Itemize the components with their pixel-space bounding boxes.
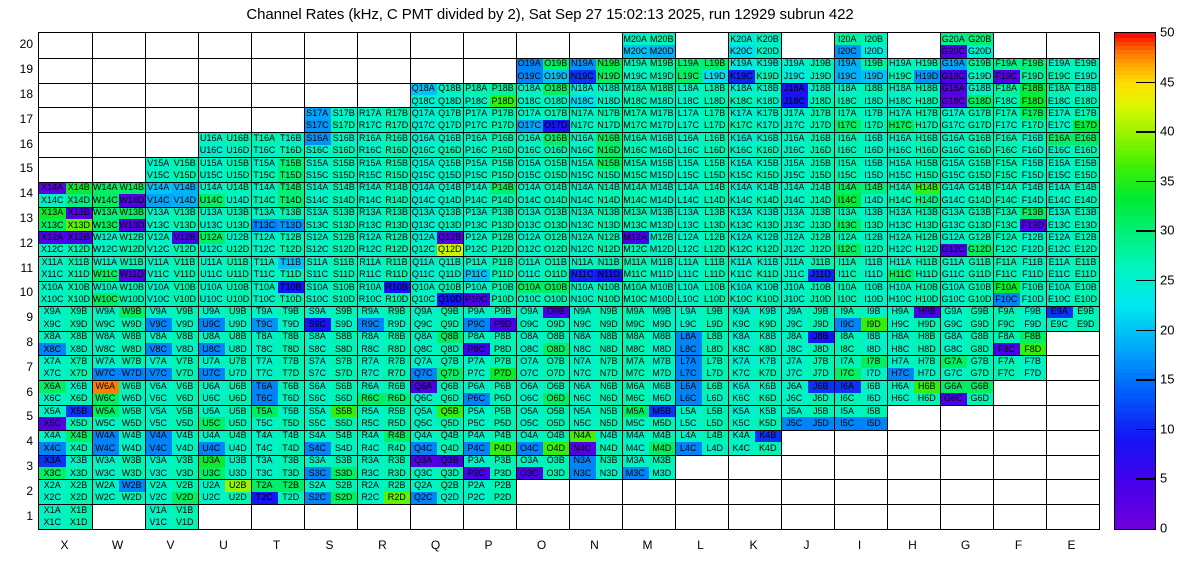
heatmap-quadrant: M14C [622, 194, 649, 206]
heatmap-quadrant: S17C [304, 120, 331, 132]
heatmap-quadrant: G10D [967, 293, 994, 305]
heatmap-quadrant: F9C [993, 318, 1020, 330]
heatmap-quadrant: T7D [278, 368, 305, 380]
heatmap-quadrant: I6C [834, 393, 861, 405]
heatmap-quadrant: K6A [728, 380, 755, 392]
heatmap-quadrant: M12C [622, 244, 649, 256]
heatmap-quadrant: P11B [490, 256, 517, 268]
heatmap-quadrant: N19B [596, 58, 623, 70]
heatmap-quadrant: V15A [145, 157, 172, 169]
heatmap-quadrant: O6A [516, 380, 543, 392]
x-axis-tick: F [992, 538, 1046, 552]
heatmap-quadrant: E10B [1073, 281, 1100, 293]
heatmap-quadrant: N11A [569, 256, 596, 268]
heatmap-quadrant: K8C [728, 343, 755, 355]
heatmap-quadrant: K16A [728, 132, 755, 144]
heatmap-quadrant: G7A [940, 355, 967, 367]
heatmap-quadrant: U8A [198, 331, 225, 343]
heatmap-quadrant: N16B [596, 132, 623, 144]
heatmap-quadrant: Q13A [410, 207, 437, 219]
heatmap-quadrant: V11C [145, 269, 172, 281]
heatmap-quadrant: S7B [331, 355, 358, 367]
heatmap-quadrant: L9B [702, 306, 729, 318]
heatmap-quadrant: K12B [755, 231, 782, 243]
heatmap-quadrant: I11B [861, 256, 888, 268]
heatmap-quadrant: S16B [331, 132, 358, 144]
heatmap-quadrant: H14D [914, 194, 941, 206]
heatmap-quadrant: H16C [887, 145, 914, 157]
colorbar-tick-label: 10 [1160, 421, 1174, 436]
heatmap-quadrant: O3D [543, 467, 570, 479]
heatmap-quadrant: R9D [384, 318, 411, 330]
heatmap-quadrant: S11A [304, 256, 331, 268]
heatmap-quadrant: K5D [755, 417, 782, 429]
heatmap-quadrant: J18A [781, 83, 808, 95]
heatmap-quadrant: J14A [781, 182, 808, 194]
heatmap-quadrant: U7D [225, 368, 252, 380]
heatmap-quadrant: M10D [649, 293, 676, 305]
heatmap-quadrant: P18B [490, 83, 517, 95]
x-axis-tick: N [568, 538, 622, 552]
heatmap-quadrant: R14C [357, 194, 384, 206]
heatmap-quadrant: U3A [198, 455, 225, 467]
colorbar-tick-mark [1136, 280, 1156, 281]
heatmap-quadrant: M15B [649, 157, 676, 169]
heatmap-quadrant: H10D [914, 293, 941, 305]
heatmap-quadrant: T14C [251, 194, 278, 206]
heatmap-quadrant: V10B [172, 281, 199, 293]
heatmap-quadrant: L12B [702, 231, 729, 243]
heatmap-quadrant: J6C [781, 393, 808, 405]
heatmap-quadrant: G12B [967, 231, 994, 243]
heatmap-quadrant: V3C [145, 467, 172, 479]
heatmap-quadrant: G7C [940, 368, 967, 380]
heatmap-quadrant: J7C [781, 368, 808, 380]
heatmap-quadrant: S9C [304, 318, 331, 330]
heatmap-quadrant: T12A [251, 231, 278, 243]
heatmap-quadrant: G16C [940, 145, 967, 157]
y-axis-tick: 7 [3, 360, 33, 374]
heatmap-quadrant: J6A [781, 380, 808, 392]
heatmap-quadrant: R12D [384, 244, 411, 256]
heatmap-quadrant: E9B [1073, 306, 1100, 318]
heatmap-quadrant: X14C [39, 194, 66, 206]
heatmap-quadrant: L17D [702, 120, 729, 132]
y-axis-tick: 2 [3, 484, 33, 498]
heatmap-quadrant: R7B [384, 355, 411, 367]
colorbar-tick-mark [1136, 131, 1156, 132]
heatmap-quadrant: O5C [516, 417, 543, 429]
heatmap-quadrant: G15C [940, 169, 967, 181]
heatmap-quadrant: U4A [198, 430, 225, 442]
heatmap-quadrant: V7B [172, 355, 199, 367]
heatmap-quadrant: F9B [1020, 306, 1047, 318]
heatmap-quadrant: N14B [596, 182, 623, 194]
heatmap-quadrant: L4A [675, 430, 702, 442]
heatmap-quadrant: J15A [781, 157, 808, 169]
heatmap-quadrant: T6C [251, 393, 278, 405]
heatmap-quadrant: K5C [728, 417, 755, 429]
heatmap-quadrant: F17C [993, 120, 1020, 132]
heatmap-quadrant: H19D [914, 70, 941, 82]
heatmap-quadrant: G16D [967, 145, 994, 157]
heatmap-quadrant: I6A [834, 380, 861, 392]
heatmap-quadrant: M4D [649, 442, 676, 454]
heatmap-quadrant: U14A [198, 182, 225, 194]
heatmap-quadrant: N16C [569, 145, 596, 157]
heatmap-quadrant: O19B [543, 58, 570, 70]
heatmap-quadrant: Q7D [437, 368, 464, 380]
heatmap-quadrant: M16A [622, 132, 649, 144]
heatmap-quadrant: J16D [808, 145, 835, 157]
y-axis-tick: 3 [3, 459, 33, 473]
heatmap-quadrant: V7A [145, 355, 172, 367]
heatmap-quadrant: U8B [225, 331, 252, 343]
colorbar-tick-mark [1136, 429, 1156, 430]
heatmap-quadrant: L11D [702, 269, 729, 281]
heatmap-quadrant: P14D [490, 194, 517, 206]
heatmap-quadrant: R11D [384, 269, 411, 281]
heatmap-quadrant: P8D [490, 343, 517, 355]
heatmap-quadrant: W6A [92, 380, 119, 392]
heatmap-quadrant: H15C [887, 169, 914, 181]
heatmap-quadrant: Q18C [410, 95, 437, 107]
heatmap-quadrant: H9A [887, 306, 914, 318]
heatmap-quadrant: F14D [1020, 194, 1047, 206]
heatmap-quadrant: L17A [675, 107, 702, 119]
heatmap-quadrant: W5A [92, 405, 119, 417]
heatmap-quadrant: N9D [596, 318, 623, 330]
heatmap-quadrant: S4C [304, 442, 331, 454]
heatmap-quadrant: U6A [198, 380, 225, 392]
heatmap-quadrant: U9B [225, 306, 252, 318]
heatmap-quadrant: G6A [940, 380, 967, 392]
heatmap-quadrant: G11A [940, 256, 967, 268]
heatmap-quadrant: I9B [861, 306, 888, 318]
heatmap-quadrant: I16C [834, 145, 861, 157]
heatmap-quadrant: K19A [728, 58, 755, 70]
heatmap-quadrant: V3B [172, 455, 199, 467]
heatmap-quadrant: P15B [490, 157, 517, 169]
heatmap-quadrant: U4C [198, 442, 225, 454]
heatmap-quadrant: N11B [596, 256, 623, 268]
heatmap-quadrant: K10C [728, 293, 755, 305]
heatmap-quadrant: J14C [781, 194, 808, 206]
heatmap-quadrant: J7B [808, 355, 835, 367]
colorbar-tick-mark [1136, 379, 1156, 380]
heatmap-quadrant: P8C [463, 343, 490, 355]
heatmap-quadrant: L15A [675, 157, 702, 169]
heatmap-quadrant: I5B [861, 405, 888, 417]
heatmap-quadrant: E11C [1046, 269, 1073, 281]
x-axis-tick: L [674, 538, 728, 552]
heatmap-quadrant: J5D [808, 417, 835, 429]
heatmap-quadrant: L14D [702, 194, 729, 206]
heatmap-quadrant: J14D [808, 194, 835, 206]
heatmap-quadrant: O14D [543, 194, 570, 206]
heatmap-quadrant: X7B [66, 355, 93, 367]
heatmap-quadrant: Q5A [410, 405, 437, 417]
heatmap-quadrant: P17A [463, 107, 490, 119]
heatmap-quadrant: H17A [887, 107, 914, 119]
heatmap-quadrant: X8B [66, 331, 93, 343]
page-title: Channel Rates (kHz, C PMT divided by 2),… [0, 6, 1100, 23]
heatmap-quadrant: G10B [967, 281, 994, 293]
heatmap-quadrant: W3B [119, 455, 146, 467]
heatmap-quadrant: L19C [675, 70, 702, 82]
colorbar-tick-mark [1136, 330, 1156, 331]
heatmap-quadrant: G14C [940, 194, 967, 206]
heatmap-quadrant: V5D [172, 417, 199, 429]
heatmap-quadrant: Q11B [437, 256, 464, 268]
heatmap-quadrant: N9C [569, 318, 596, 330]
heatmap-quadrant: P6C [463, 393, 490, 405]
heatmap-quadrant: L8C [675, 343, 702, 355]
heatmap-quadrant: J17B [808, 107, 835, 119]
heatmap-quadrant: J18B [808, 83, 835, 95]
y-axis-tick: 9 [3, 310, 33, 324]
heatmap-quadrant: O12C [516, 244, 543, 256]
heatmap-quadrant: K16B [755, 132, 782, 144]
heatmap-quadrant: L14C [675, 194, 702, 206]
heatmap-quadrant: N9A [569, 306, 596, 318]
heatmap-quadrant: I19D [861, 70, 888, 82]
heatmap-quadrant: J7A [781, 355, 808, 367]
heatmap-quadrant: U4B [225, 430, 252, 442]
heatmap-quadrant: H11C [887, 269, 914, 281]
heatmap-quadrant: P3A [463, 455, 490, 467]
heatmap-quadrant: N8B [596, 331, 623, 343]
x-axis-tick: Q [409, 538, 463, 552]
heatmap-quadrant: E13C [1046, 219, 1073, 231]
heatmap-quadrant: X3B [66, 455, 93, 467]
heatmap-quadrant: M14B [649, 182, 676, 194]
heatmap-quadrant: H14A [887, 182, 914, 194]
colorbar-tick-label: 40 [1160, 124, 1174, 139]
heatmap-quadrant: J8C [781, 343, 808, 355]
heatmap-quadrant: S10C [304, 293, 331, 305]
heatmap-quadrant: Q10B [437, 281, 464, 293]
heatmap-quadrant: H13C [887, 219, 914, 231]
heatmap-quadrant: T12C [251, 244, 278, 256]
heatmap-quadrant: K17A [728, 107, 755, 119]
heatmap-quadrant: P17B [490, 107, 517, 119]
heatmap-quadrant: K13D [755, 219, 782, 231]
heatmap-quadrant: E18A [1046, 83, 1073, 95]
heatmap-quadrant: T6B [278, 380, 305, 392]
heatmap-quadrant: U11C [198, 269, 225, 281]
heatmap-quadrant: G18C [940, 95, 967, 107]
heatmap-quadrant: W9C [92, 318, 119, 330]
heatmap-quadrant: G17C [940, 120, 967, 132]
heatmap-quadrant: L7B [702, 355, 729, 367]
heatmap-quadrant: R10B [384, 281, 411, 293]
heatmap-quadrant: T9B [278, 306, 305, 318]
heatmap-quadrant: Q8A [410, 331, 437, 343]
heatmap-quadrant: X11B [66, 256, 93, 268]
heatmap-quadrant: P13D [490, 219, 517, 231]
heatmap-quadrant: H6C [887, 393, 914, 405]
heatmap-quadrant: J15C [781, 169, 808, 181]
heatmap-quadrant: I12B [861, 231, 888, 243]
heatmap-quadrant: J10A [781, 281, 808, 293]
heatmap-quadrant: R8C [357, 343, 384, 355]
heatmap-quadrant: Q3A [410, 455, 437, 467]
x-axis-tick: M [621, 538, 675, 552]
heatmap-quadrant: X2A [39, 479, 66, 491]
y-axis-tick: 17 [3, 112, 33, 126]
heatmap-quadrant: T15B [278, 157, 305, 169]
heatmap-quadrant: M6C [622, 393, 649, 405]
heatmap-quadrant: N12C [569, 244, 596, 256]
heatmap-quadrant: J17D [808, 120, 835, 132]
heatmap-quadrant: P12C [463, 244, 490, 256]
heatmap-quadrant: X13D [66, 219, 93, 231]
heatmap-quadrant: E13B [1073, 207, 1100, 219]
heatmap-quadrant: Q6C [410, 393, 437, 405]
heatmap-quadrant: L5A [675, 405, 702, 417]
heatmap-quadrant: R11A [357, 256, 384, 268]
heatmap-quadrant: N8C [569, 343, 596, 355]
heatmap-quadrant: R2C [357, 492, 384, 504]
heatmap-quadrant: E16A [1046, 132, 1073, 144]
heatmap-quadrant: M13A [622, 207, 649, 219]
heatmap-quadrant: X9C [39, 318, 66, 330]
heatmap-quadrant: Q18A [410, 83, 437, 95]
heatmap-quadrant: H11A [887, 256, 914, 268]
heatmap-quadrant: W13A [92, 207, 119, 219]
heatmap-quadrant: X9D [66, 318, 93, 330]
heatmap-quadrant: W7A [92, 355, 119, 367]
heatmap-quadrant: X3D [66, 467, 93, 479]
heatmap-quadrant: U13D [225, 219, 252, 231]
colorbar-tick-mark [1136, 230, 1156, 231]
heatmap-quadrant: T8C [251, 343, 278, 355]
heatmap-quadrant: E19D [1073, 70, 1100, 82]
x-axis-tick: E [1045, 538, 1099, 552]
heatmap-quadrant: F19B [1020, 58, 1047, 70]
y-axis-tick: 14 [3, 186, 33, 200]
heatmap-quadrant: I15B [861, 157, 888, 169]
heatmap-quadrant: W14A [92, 182, 119, 194]
heatmap-quadrant: L5D [702, 417, 729, 429]
heatmap-quadrant: L9D [702, 318, 729, 330]
heatmap-quadrant: S12C [304, 244, 331, 256]
heatmap-quadrant: F14A [993, 182, 1020, 194]
heatmap-quadrant: N6D [596, 393, 623, 405]
heatmap-quadrant: M12A [622, 231, 649, 243]
heatmap-quadrant: X1C [39, 517, 66, 529]
heatmap-quadrant: L19A [675, 58, 702, 70]
heatmap-quadrant: X3A [39, 455, 66, 467]
heatmap-quadrant: E17D [1073, 120, 1100, 132]
heatmap-quadrant: P9D [490, 318, 517, 330]
heatmap-quadrant: F14C [993, 194, 1020, 206]
heatmap-quadrant: U10C [198, 293, 225, 305]
heatmap-quadrant: V2A [145, 479, 172, 491]
heatmap-quadrant: X8C [39, 343, 66, 355]
heatmap-quadrant: V6C [145, 393, 172, 405]
heatmap-quadrant: V1C [145, 517, 172, 529]
heatmap-quadrant: R17D [384, 120, 411, 132]
heatmap-quadrant: S8A [304, 331, 331, 343]
heatmap-quadrant: L18B [702, 83, 729, 95]
heatmap-quadrant: F16D [1020, 145, 1047, 157]
heatmap-quadrant: O19D [543, 70, 570, 82]
heatmap-quadrant: K4C [728, 442, 755, 454]
heatmap-quadrant: V15C [145, 169, 172, 181]
heatmap-quadrant: Q8B [437, 331, 464, 343]
heatmap-quadrant: O12D [543, 244, 570, 256]
heatmap-quadrant: V11D [172, 269, 199, 281]
heatmap-quadrant: F8B [1020, 331, 1047, 343]
heatmap-quadrant: K14C [728, 194, 755, 206]
heatmap-quadrant: K9B [755, 306, 782, 318]
heatmap-quadrant: G19D [967, 70, 994, 82]
heatmap-quadrant: Q5D [437, 417, 464, 429]
heatmap-quadrant: V1A [145, 504, 172, 516]
heatmap-quadrant: M3C [622, 467, 649, 479]
heatmap-quadrant: T6A [251, 380, 278, 392]
heatmap-quadrant: R4A [357, 430, 384, 442]
heatmap-quadrant: G18A [940, 83, 967, 95]
heatmap-quadrant: I15C [834, 169, 861, 181]
heatmap-quadrant: Q11C [410, 269, 437, 281]
heatmap-quadrant: K18D [755, 95, 782, 107]
heatmap-quadrant: J18D [808, 95, 835, 107]
heatmap-quadrant: T10A [251, 281, 278, 293]
heatmap-quadrant: S3B [331, 455, 358, 467]
x-axis-tick: S [303, 538, 357, 552]
heatmap-quadrant: M9A [622, 306, 649, 318]
heatmap-quadrant: N6B [596, 380, 623, 392]
heatmap-quadrant: R5B [384, 405, 411, 417]
heatmap-quadrant: W14D [119, 194, 146, 206]
heatmap-quadrant: V12D [172, 244, 199, 256]
heatmap-quadrant: X5A [39, 405, 66, 417]
heatmap-quadrant: P13C [463, 219, 490, 231]
heatmap-quadrant: J5C [781, 417, 808, 429]
heatmap-quadrant: Q13B [437, 207, 464, 219]
heatmap-quadrant: M3A [622, 455, 649, 467]
heatmap-quadrant: Q6D [437, 393, 464, 405]
heatmap-quadrant: K4A [728, 430, 755, 442]
heatmap-quadrant: L6B [702, 380, 729, 392]
heatmap-quadrant: S15B [331, 157, 358, 169]
heatmap-quadrant: T16C [251, 145, 278, 157]
heatmap-quadrant: Q12B [437, 231, 464, 243]
heatmap-quadrant: I12D [861, 244, 888, 256]
heatmap-quadrant: E15C [1046, 169, 1073, 181]
heatmap-quadrant: S13B [331, 207, 358, 219]
heatmap-quadrant: H15B [914, 157, 941, 169]
heatmap-quadrant: K10B [755, 281, 782, 293]
heatmap-quadrant: I19B [861, 58, 888, 70]
x-axis-tick: K [727, 538, 781, 552]
heatmap-quadrant: R14D [384, 194, 411, 206]
heatmap-quadrant: K17C [728, 120, 755, 132]
heatmap-quadrant: T16B [278, 132, 305, 144]
heatmap-quadrant: X2B [66, 479, 93, 491]
heatmap-quadrant: E9D [1073, 318, 1100, 330]
heatmap-quadrant: I8A [834, 331, 861, 343]
heatmap-quadrant: S10D [331, 293, 358, 305]
heatmap-quadrant: R14B [384, 182, 411, 194]
channel-rate-heatmap[interactable]: M20AM20BM20CM20DK20AK20BK20CK20DI20AI20B… [38, 32, 1100, 530]
heatmap-quadrant: G19A [940, 58, 967, 70]
heatmap-quadrant: W4C [92, 442, 119, 454]
heatmap-quadrant: F7C [993, 368, 1020, 380]
